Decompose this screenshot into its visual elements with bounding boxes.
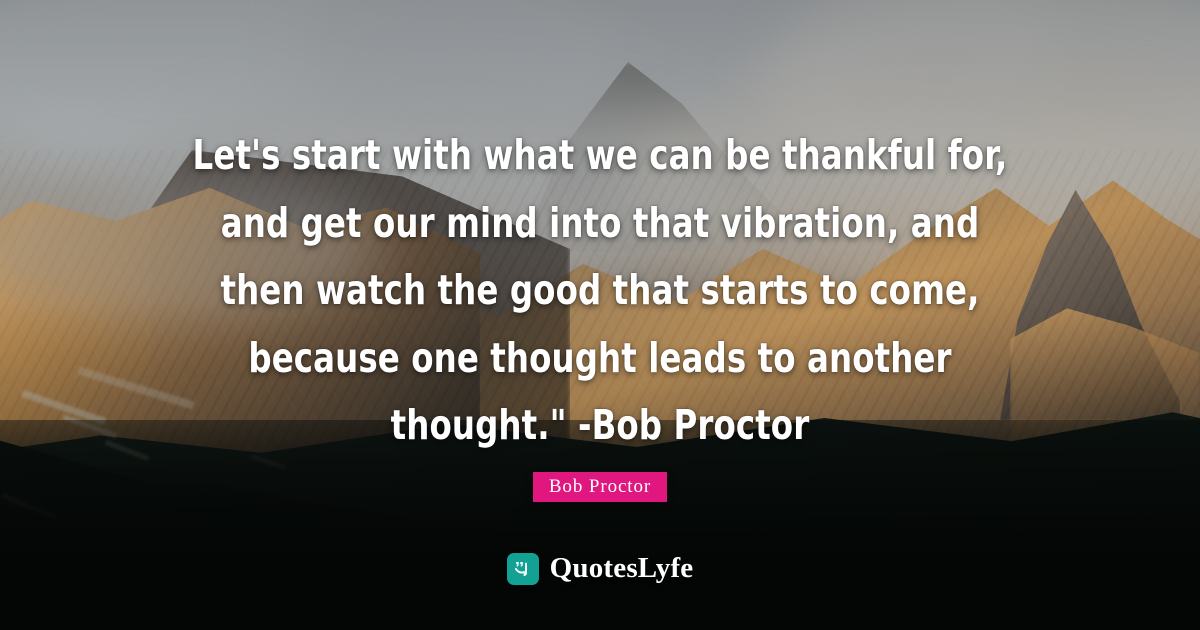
card-content: Let's start with what we can be thankful… xyxy=(0,0,1200,630)
quote-smiley-icon xyxy=(507,553,539,585)
quote-text: Let's start with what we can be thankful… xyxy=(125,0,1075,460)
brand-logo[interactable]: QuotesLyfe xyxy=(0,552,1200,585)
author-badge[interactable]: Bob Proctor xyxy=(533,472,667,502)
brand-name: QuotesLyfe xyxy=(550,552,694,585)
quote-card: Let's start with what we can be thankful… xyxy=(0,0,1200,630)
